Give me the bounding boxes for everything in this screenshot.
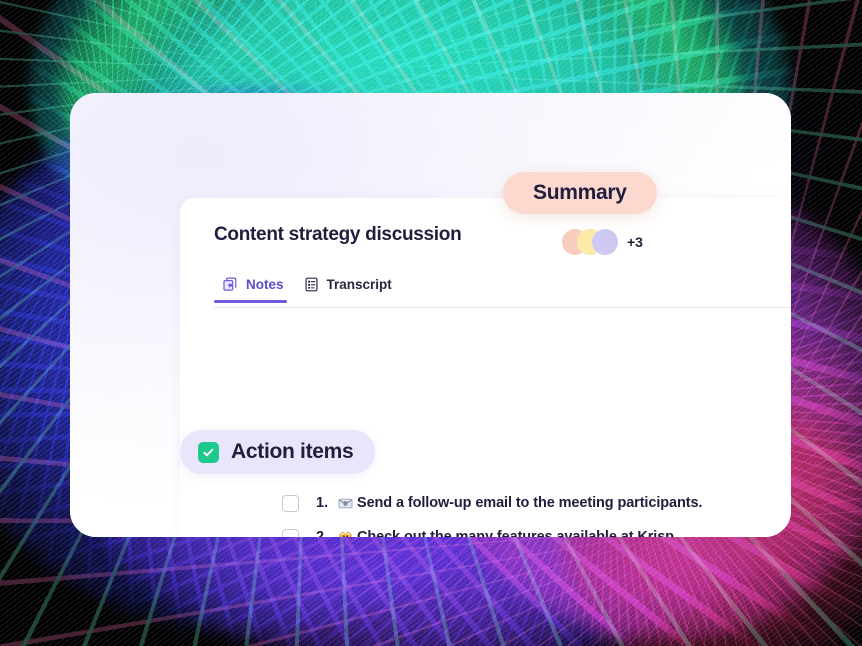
checked-checkbox-icon bbox=[198, 442, 219, 463]
item-number: 1. bbox=[316, 495, 338, 511]
item-number: 2. bbox=[316, 529, 338, 537]
participant-avatar-group[interactable]: +3 bbox=[562, 229, 643, 255]
screaming-face-icon bbox=[338, 530, 357, 538]
action-items-badge[interactable]: Action items bbox=[180, 430, 375, 474]
panel-header: Content strategy discussion +3 bbox=[214, 216, 764, 262]
list-item[interactable]: 2. Check out the many features available… bbox=[282, 520, 791, 537]
tab-transcript[interactable]: Transcript bbox=[295, 274, 403, 303]
summary-badge-label: Summary bbox=[533, 181, 627, 205]
action-items-label: Action items bbox=[231, 440, 353, 464]
page-title: Content strategy discussion bbox=[214, 224, 461, 246]
notes-stack-icon bbox=[222, 276, 239, 293]
action-items-list: 1. Send a follow-up email to the meeting… bbox=[282, 486, 791, 537]
avatar-overflow-count[interactable]: +3 bbox=[627, 234, 643, 250]
email-envelope-icon bbox=[338, 496, 357, 511]
item-checkbox[interactable] bbox=[282, 495, 299, 512]
tab-bar-divider bbox=[214, 307, 791, 308]
item-checkbox[interactable] bbox=[282, 529, 299, 538]
item-text: Send a follow-up email to the meeting pa… bbox=[357, 495, 702, 511]
tab-bar: Notes Transcript bbox=[214, 274, 791, 308]
tab-label: Transcript bbox=[327, 277, 392, 292]
transcript-document-icon bbox=[303, 276, 320, 293]
avatar[interactable] bbox=[592, 229, 618, 255]
summary-badge[interactable]: Summary bbox=[503, 172, 657, 214]
app-card: Content strategy discussion +3 Notes bbox=[70, 93, 791, 537]
tab-notes[interactable]: Notes bbox=[214, 274, 295, 303]
item-text: Check out the many features available at… bbox=[357, 529, 674, 537]
tab-label: Notes bbox=[246, 277, 284, 292]
list-item[interactable]: 1. Send a follow-up email to the meeting… bbox=[282, 486, 791, 520]
